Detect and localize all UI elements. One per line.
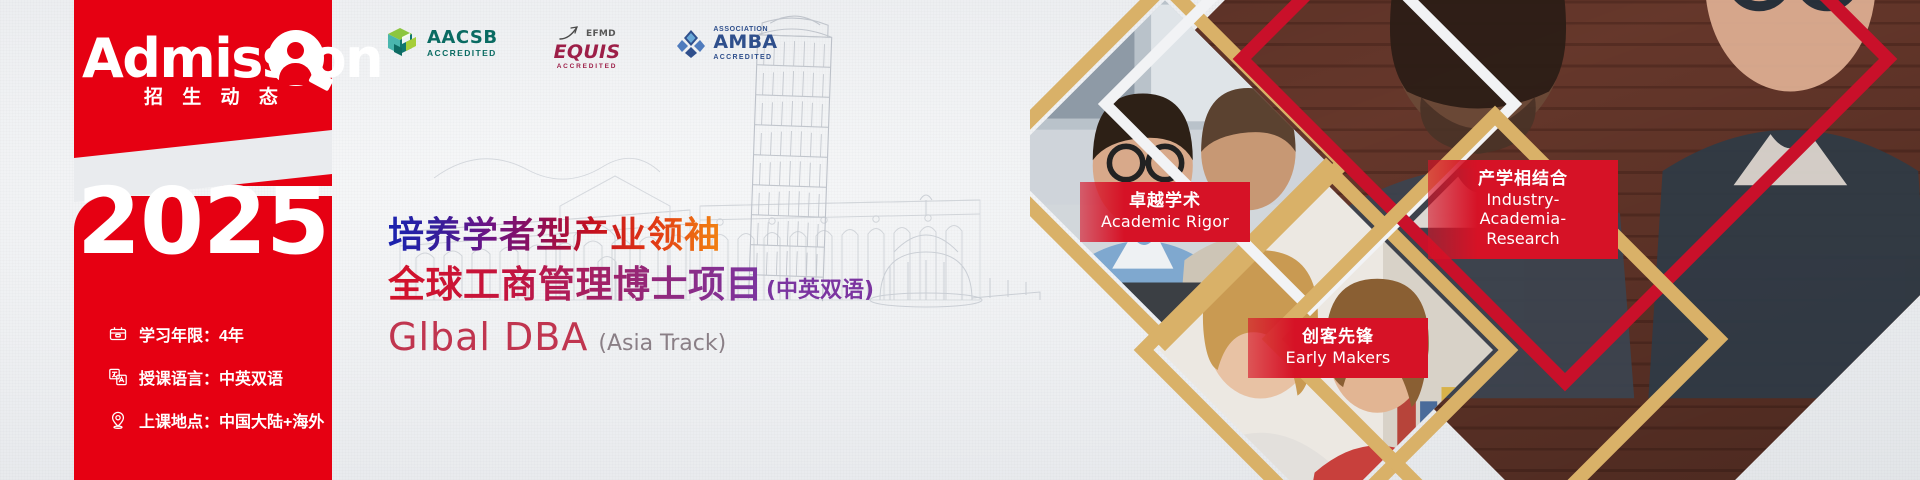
info-text-language: 授课语言：中英双语 — [139, 365, 283, 389]
program-title-en-suffix: (Asia Track) — [598, 331, 726, 356]
year-headline: 2025 — [74, 176, 332, 268]
amba-diamond-icon — [676, 29, 706, 59]
translate-icon — [108, 367, 128, 387]
info-row-location: 上课地点：中国大陆+海外 — [108, 398, 338, 441]
photo-collage: 卓越学术 Academic Rigor 产学相结合 Industry-Acade… — [1030, 0, 1920, 480]
badge-industry-en: Industry-Academia- — [1446, 190, 1600, 229]
accreditation-aacsb: AACSB ACCREDITED — [386, 26, 498, 60]
accreditation-amba: ASSOCIATION AMBA ACCREDITED — [676, 26, 777, 62]
amba-name: AMBA — [713, 33, 777, 53]
location-pin-icon — [108, 410, 128, 430]
tagline-gradient: 培养学者型产业领袖 — [388, 216, 874, 256]
aacsb-cube-icon — [386, 26, 420, 60]
badge-industry-en2: Research — [1446, 229, 1600, 249]
program-title-en: Glbal DBA — [388, 315, 588, 359]
info-text-location: 上课地点：中国大陆+海外 — [139, 408, 324, 432]
program-en-row: Glbal DBA (Asia Track) — [388, 315, 874, 359]
efmd-label: EFMD — [586, 30, 616, 39]
admission-banner: Admission 招 生 动 态 2025 学习年限：4年 — [0, 0, 1920, 480]
badge-academic-rigor: 卓越学术 Academic Rigor — [1080, 182, 1250, 242]
equis-name: EQUIS — [554, 43, 621, 62]
program-info-list: 学习年限：4年 授课语言：中英双语 — [108, 312, 338, 441]
left-red-panel: Admission 招 生 动 态 2025 学习年限：4年 — [74, 0, 332, 480]
program-cn-row: 全球工商管理博士项目 (中英双语) — [388, 264, 874, 305]
program-title-cn-suffix: (中英双语) — [766, 272, 874, 304]
admission-wordmark: Admission — [82, 32, 382, 86]
info-text-duration: 学习年限：4年 — [139, 322, 244, 346]
accreditation-equis: EFMD EQUIS ACCREDITED — [554, 26, 621, 71]
aacsb-name: AACSB — [427, 29, 498, 47]
badge-makers-cn: 创客先锋 — [1266, 327, 1410, 348]
badge-academic-cn: 卓越学术 — [1098, 191, 1232, 212]
info-row-language: 授课语言：中英双语 — [108, 355, 338, 398]
admission-chinese-label: 招 生 动 态 — [144, 82, 285, 109]
calendar-icon — [108, 324, 128, 344]
badge-early-makers: 创客先锋 Early Makers — [1248, 318, 1428, 378]
headline-block: 培养学者型产业领袖 全球工商管理博士项目 (中英双语) Glbal DBA (A… — [388, 216, 874, 359]
badge-makers-en: Early Makers — [1266, 348, 1410, 368]
accreditation-logo-row: AACSB ACCREDITED EFMD EQUIS ACCREDITED — [386, 26, 777, 71]
amba-subtitle: ACCREDITED — [713, 54, 777, 61]
aacsb-subtitle: ACCREDITED — [427, 49, 498, 58]
badge-academic-en: Academic Rigor — [1098, 212, 1232, 232]
equis-subtitle: ACCREDITED — [554, 64, 621, 71]
badge-industry-cn: 产学相结合 — [1446, 169, 1600, 190]
efmd-swoosh-icon — [558, 26, 582, 42]
info-row-duration: 学习年限：4年 — [108, 312, 338, 355]
badge-industry-research: 产学相结合 Industry-Academia- Research — [1428, 160, 1618, 259]
program-title-cn: 全球工商管理博士项目 — [388, 264, 763, 305]
